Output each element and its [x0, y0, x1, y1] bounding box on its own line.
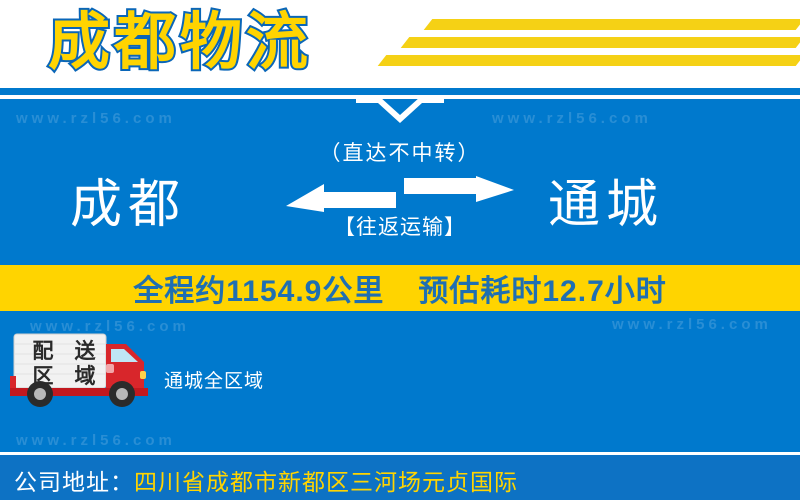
truck-box-char-2: 送 [64, 339, 106, 364]
truck-box-label: 配 送 区 域 [22, 338, 106, 390]
chevron-down-icon [356, 93, 444, 129]
page-title: 成都物流 [48, 4, 312, 82]
address-label: 公司地址： [14, 469, 134, 495]
footer-bar: 公司地址：四川省成都市新都区三河场元贞国际 [0, 455, 800, 500]
watermark: www.rzl56.com [16, 432, 176, 449]
header-bar: 成都物流 [0, 0, 800, 88]
watermark: www.rzl56.com [612, 316, 772, 333]
truck-box-char-3: 区 [22, 364, 64, 389]
route-middle: （直达不中转） 【往返运输】 [280, 140, 520, 242]
stats-band: 全程约1154.9公里 预估耗时12.7小时 [0, 265, 800, 311]
truck-box-char-1: 配 [22, 339, 64, 364]
truck-box-char-4: 域 [64, 364, 106, 389]
stripe-1 [424, 19, 800, 30]
watermark: www.rzl56.com [492, 110, 652, 127]
bidirectional-arrow-icon [286, 176, 514, 212]
watermark: www.rzl56.com [16, 110, 176, 127]
delivery-truck-icon: 配 送 区 域 [8, 330, 158, 408]
distance-text: 全程约1154.9公里 [133, 266, 384, 310]
coverage-area-text: 通城全区域 [164, 366, 264, 393]
roundtrip-note: 【往返运输】 [280, 214, 520, 242]
duration-text: 预估耗时12.7小时 [418, 266, 666, 310]
stripe-2 [401, 37, 800, 48]
decorative-stripes [370, 0, 800, 88]
address-value: 四川省成都市新都区三河场元贞国际 [134, 469, 518, 495]
destination-city: 通城 [548, 170, 664, 240]
logistics-banner: 成都物流 www.rzl56.com www.rzl56.com www.rzl… [0, 0, 800, 500]
direct-note: （直达不中转） [280, 140, 520, 168]
origin-city: 成都 [70, 170, 186, 240]
stripe-3 [378, 55, 800, 66]
